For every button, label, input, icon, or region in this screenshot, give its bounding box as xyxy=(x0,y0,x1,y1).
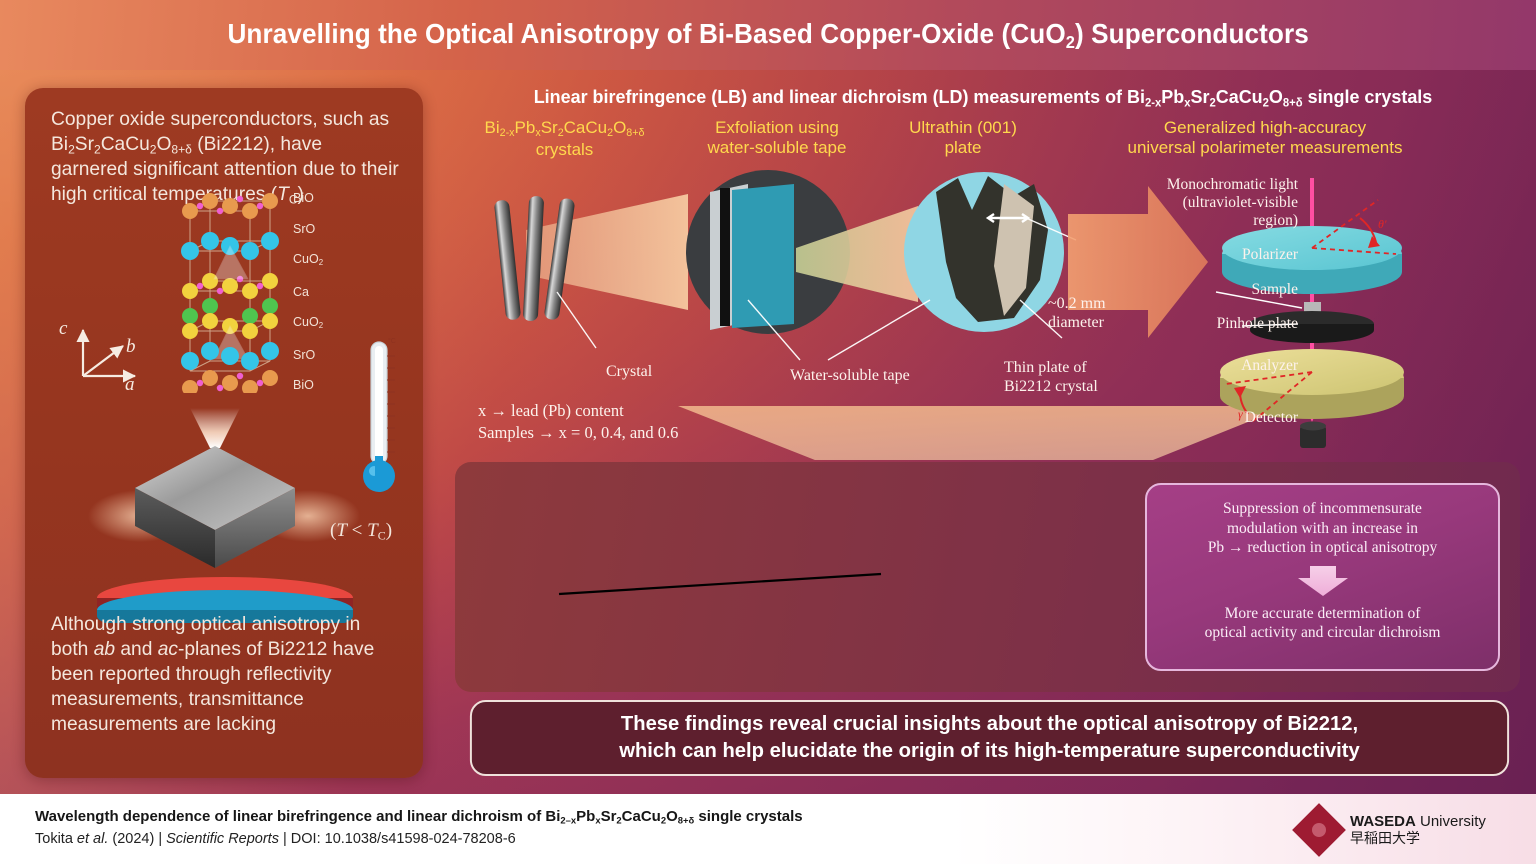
step-label-polarimeter: Generalized high-accuracy universal pola… xyxy=(1055,118,1475,158)
step-label-exfoliation: Exfoliation using water-soluble tape xyxy=(687,118,867,158)
crystal-axes-indicator: c b a xyxy=(53,316,163,401)
x-definition: x → lead (Pb) content xyxy=(478,400,678,422)
svg-text:θ': θ' xyxy=(1378,217,1387,231)
axis-label-a: a xyxy=(125,374,135,396)
step-label-crystals-line2: crystals xyxy=(462,140,667,160)
title-bar: Unravelling the Optical Anisotropy of Bi… xyxy=(0,0,1536,70)
callout-box: Suppression of incommensurate modulation… xyxy=(1145,483,1500,671)
left-info-panel: Copper oxide superconductors, such as Bi… xyxy=(25,88,423,778)
callout-line2: modulation with an increase in xyxy=(1147,519,1498,539)
down-arrow-icon xyxy=(1296,566,1350,596)
label-monochromatic-light: Monochromatic light (ultraviolet-visible… xyxy=(1118,176,1298,230)
levitating-superconductor-illustration xyxy=(80,408,370,623)
waseda-logo-jp: 早稲田大学 xyxy=(1350,831,1486,847)
callout-line3: Pb → reduction in optical anisotropy xyxy=(1147,538,1498,558)
right-panel-heading: Linear birefringence (LB) and linear dic… xyxy=(464,86,1502,109)
annotation-crystal: Crystal xyxy=(606,362,652,381)
svg-text:°C: °C xyxy=(388,337,396,345)
step-label-ultrathin: Ultrathin (001) plate xyxy=(889,118,1037,158)
lattice-label-bio-top: BiO xyxy=(293,192,393,205)
sample-composition-note: x → lead (Pb) content Samples → x = 0, 0… xyxy=(478,400,678,445)
axis-label-c: c xyxy=(59,318,67,340)
process-step-labels: Bi2-xPbxSr2CaCu2O8+δ crystals Exfoliatio… xyxy=(448,118,1520,178)
label-analyzer: Analyzer xyxy=(1118,357,1298,375)
waseda-logo-en: WASEDA University xyxy=(1350,814,1486,831)
callout-line1: Suppression of incommensurate xyxy=(1147,499,1498,519)
temperature-condition-label: (T < TC) xyxy=(330,520,392,543)
label-pinhole-plate: Pinhole plate xyxy=(1108,315,1298,333)
annotation-thin-plate: Thin plate of Bi2212 crystal xyxy=(1004,358,1098,396)
lattice-label-sro-top: SrO xyxy=(293,223,393,236)
waseda-logo-text: WASEDA University 早稲田大学 xyxy=(1350,814,1486,846)
callout-line4: More accurate determination of xyxy=(1147,604,1498,624)
annotation-water-soluble-tape: Water-soluble tape xyxy=(790,366,910,385)
callout-line5: optical activity and circular dichroism xyxy=(1147,623,1498,643)
step-label-crystals: Bi2-xPbxSr2CaCu2O8+δ crystals xyxy=(462,118,667,160)
findings-banner: These findings reveal crucial insights a… xyxy=(470,700,1509,776)
lattice-label-ca: Ca xyxy=(293,286,393,299)
footer: Wavelength dependence of linear birefrin… xyxy=(0,794,1536,864)
footer-paper-title: Wavelength dependence of linear birefrin… xyxy=(35,808,803,827)
findings-line1: These findings reveal crucial insights a… xyxy=(619,711,1360,738)
footer-citation: Tokita et al. (2024) | Scientific Report… xyxy=(35,831,516,847)
bottom-paragraph: Although strong optical anisotropy in bo… xyxy=(51,613,401,738)
findings-line2: which can help elucidate the origin of i… xyxy=(619,738,1360,765)
axis-label-b: b xyxy=(126,336,136,358)
page-title: Unravelling the Optical Anisotropy of Bi… xyxy=(227,18,1308,53)
waseda-diamond-icon xyxy=(1292,803,1346,857)
sample-list: Samples → x = 0, 0.4, and 0.6 xyxy=(478,422,678,444)
waseda-logo: WASEDA University 早稲田大学 xyxy=(1300,807,1516,853)
label-polarizer: Polarizer xyxy=(1118,246,1298,264)
lattice-label-cuo2-top: CuO2 xyxy=(293,253,393,267)
chart-connector-line xyxy=(525,560,885,610)
label-detector: Detector xyxy=(1118,409,1298,427)
thermometer-icon: °C xyxy=(358,336,402,506)
label-sample: Sample xyxy=(1118,281,1298,299)
lattice-label-cuo2-bottom: CuO2 xyxy=(293,316,393,330)
crystal-lattice-diagram xyxy=(170,193,290,393)
annotation-diameter: ~0.2 mm diameter xyxy=(1048,294,1106,332)
